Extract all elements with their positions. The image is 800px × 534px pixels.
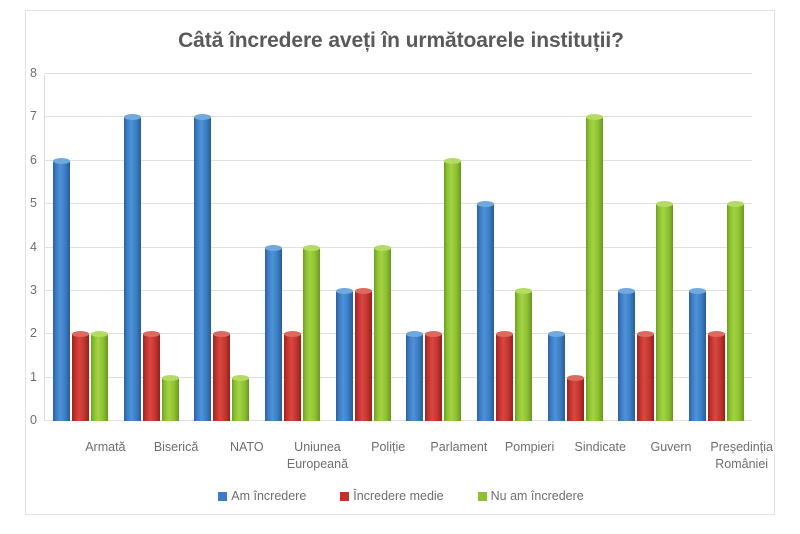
x-axis-tick-label: Poliție — [353, 439, 424, 473]
x-axis-tick-label: Armată — [70, 439, 141, 473]
bar[interactable] — [406, 334, 423, 421]
bar[interactable] — [637, 334, 654, 421]
legend-item[interactable]: Am încredere — [218, 489, 306, 503]
bar[interactable] — [91, 334, 108, 421]
bar[interactable] — [496, 334, 513, 421]
bar[interactable] — [548, 334, 565, 421]
bar-group — [681, 74, 752, 421]
bar-group — [399, 74, 470, 421]
bar[interactable] — [425, 334, 442, 421]
legend-item[interactable]: Nu am încredere — [478, 489, 584, 503]
bar[interactable] — [618, 291, 635, 421]
bar[interactable] — [355, 291, 372, 421]
x-axis-tick-label: Parlament — [424, 439, 495, 473]
bar[interactable] — [72, 334, 89, 421]
bar[interactable] — [708, 334, 725, 421]
x-axis-tick-label: Pompieri — [494, 439, 565, 473]
chart-legend: Am încredereÎncredere medieNu am încrede… — [26, 489, 776, 503]
x-axis-tick-label: Președinția României — [706, 439, 777, 473]
x-axis-tick-label: Uniunea Europeană — [282, 439, 353, 473]
bar[interactable] — [303, 248, 320, 422]
y-axis-tick-label: 8 — [30, 66, 37, 80]
plot-area: 012345678 — [45, 74, 752, 421]
bar[interactable] — [727, 204, 744, 421]
bar[interactable] — [567, 378, 584, 421]
chart-title: Câtă încredere aveți în următoarele inst… — [26, 29, 776, 53]
bar[interactable] — [232, 378, 249, 421]
bar[interactable] — [515, 291, 532, 421]
bar[interactable] — [444, 161, 461, 421]
bar[interactable] — [689, 291, 706, 421]
y-axis-tick-label: 6 — [30, 153, 37, 167]
bar-group — [540, 74, 611, 421]
bar[interactable] — [265, 248, 282, 422]
legend-item[interactable]: Încredere medie — [340, 489, 443, 503]
bar[interactable] — [162, 378, 179, 421]
y-axis-tick-label: 4 — [30, 240, 37, 254]
bar[interactable] — [656, 204, 673, 421]
bar[interactable] — [284, 334, 301, 421]
y-axis-tick-label: 0 — [30, 413, 37, 427]
legend-label: Nu am încredere — [491, 489, 584, 503]
bar-group — [328, 74, 399, 421]
bar-groups — [45, 74, 752, 421]
bar[interactable] — [124, 117, 141, 421]
legend-swatch-icon — [218, 492, 227, 501]
bar-group — [257, 74, 328, 421]
bar-group — [116, 74, 187, 421]
bar[interactable] — [586, 117, 603, 421]
bar[interactable] — [143, 334, 160, 421]
y-axis-tick-label: 7 — [30, 109, 37, 123]
bar-group — [469, 74, 540, 421]
y-axis-tick-label: 1 — [30, 370, 37, 384]
x-axis-tick-label: Guvern — [636, 439, 707, 473]
x-axis-tick-label: Sindicate — [565, 439, 636, 473]
bar[interactable] — [213, 334, 230, 421]
legend-label: Încredere medie — [353, 489, 443, 503]
bar-group — [45, 74, 116, 421]
y-axis-tick-label: 2 — [30, 326, 37, 340]
bar[interactable] — [374, 248, 391, 422]
legend-swatch-icon — [340, 492, 349, 501]
legend-swatch-icon — [478, 492, 487, 501]
x-axis-tick-label: NATO — [211, 439, 282, 473]
y-axis-tick-label: 5 — [30, 196, 37, 210]
chart-card: Câtă încredere aveți în următoarele inst… — [25, 10, 775, 515]
x-axis-labels: ArmatăBisericăNATOUniunea EuropeanăPoliț… — [70, 439, 777, 473]
bar[interactable] — [477, 204, 494, 421]
bar[interactable] — [194, 117, 211, 421]
bar[interactable] — [53, 161, 70, 421]
bar-group — [186, 74, 257, 421]
x-axis-tick-label: Biserică — [141, 439, 212, 473]
y-axis-tick-label: 3 — [30, 283, 37, 297]
bar[interactable] — [336, 291, 353, 421]
bar-group — [611, 74, 682, 421]
legend-label: Am încredere — [231, 489, 306, 503]
